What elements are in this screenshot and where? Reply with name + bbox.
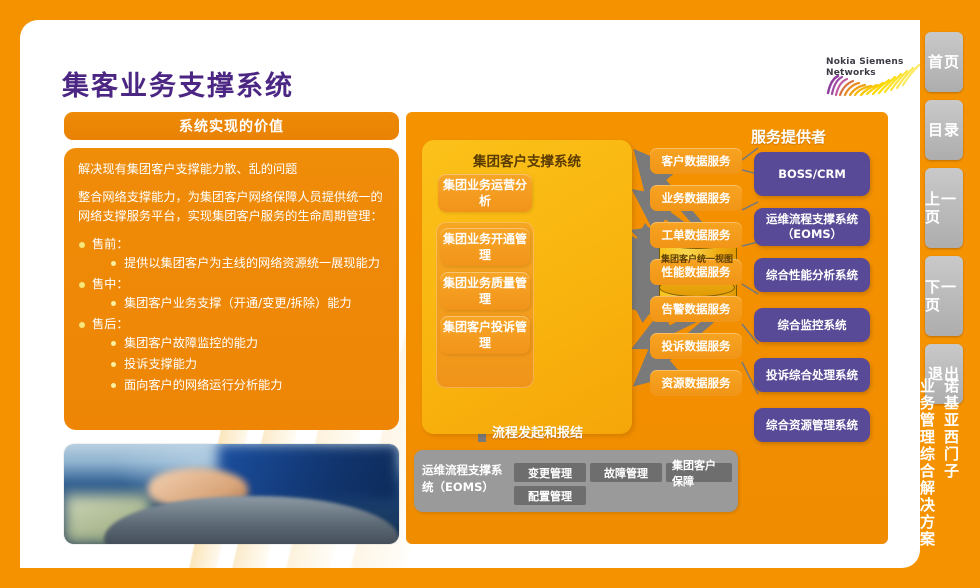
vertical-brand-text: 诺基亚西门子 [941, 378, 962, 480]
eoms-label: 运维流程支撑系统（EOMS） [422, 462, 510, 496]
provider-complaint-handling[interactable]: 投诉综合处理系统 [754, 358, 870, 392]
eoms-fault-management[interactable]: 故障管理 [590, 463, 662, 482]
architecture-diagram: 服务提供者 集团客户支撑系统 集团业务运营分析 集团业务开通管理 集团业务质量管… [406, 112, 888, 544]
data-service-business[interactable]: 业务数据服务 [650, 185, 742, 211]
phase-presale-label: 售前： [92, 237, 129, 251]
cylinder-label: 集团客户统一视图 [659, 254, 735, 267]
slide-paper: 集客业务支撑系统 [20, 20, 920, 568]
data-service-alarm[interactable]: 告警数据服务 [650, 296, 742, 322]
module-provisioning[interactable]: 集团业务开通管理 [440, 228, 530, 266]
list-item: 面向客户的网络运行分析能力 [110, 376, 385, 395]
inner-box-title: 集团客户支撑系统 [422, 150, 632, 170]
page-title: 集客业务支撑系统 [62, 64, 294, 103]
vertical-subtitle-text: 业务管理综合解决方案 [917, 378, 938, 548]
nokia-siemens-networks-logo: Nokia Siemens Networks [820, 53, 920, 101]
nav-button-previous[interactable]: 上一页 [925, 168, 963, 248]
service-provider-title: 服务提供者 [751, 126, 826, 147]
illustration-photo [64, 444, 399, 544]
slide-root: 集客业务支撑系统 [0, 0, 980, 588]
phase-presale-items: 提供以集团客户为主线的网络资源统一展现能力 [110, 254, 385, 273]
eoms-config-management[interactable]: 配置管理 [514, 486, 586, 505]
nav-button-home[interactable]: 首页 [925, 32, 963, 92]
nav-button-next[interactable]: 下一页 [925, 256, 963, 336]
list-item: 提供以集团客户为主线的网络资源统一展现能力 [110, 254, 385, 273]
value-paragraph-1: 解决现有集团客户支撑能力散、乱的问题 [78, 160, 385, 179]
data-service-resource[interactable]: 资源数据服务 [650, 370, 742, 396]
phase-insale-items: 集团客户业务支撑（开通/变更/拆除）能力 [110, 294, 385, 313]
phase-aftersale-label: 售后： [92, 317, 129, 331]
phase-aftersale-items: 集团客户故障监控的能力 投诉支撑能力 面向客户的网络运行分析能力 [110, 334, 385, 395]
module-quality[interactable]: 集团业务质量管理 [440, 272, 530, 310]
module-complaint[interactable]: 集团客户投诉管理 [440, 316, 530, 354]
flow-label: 流程发起和报结 [492, 422, 583, 441]
value-paragraph-2: 整合网络支撑能力，为集团客户网络保障人员提供统一的网络支撑服务平台，实现集团客户… [78, 188, 385, 226]
data-service-ticket[interactable]: 工单数据服务 [650, 222, 742, 248]
module-operation-analysis[interactable]: 集团业务运营分析 [438, 174, 532, 212]
provider-resource-management[interactable]: 综合资源管理系统 [754, 408, 870, 442]
list-item: 集团客户业务支撑（开通/变更/拆除）能力 [110, 294, 385, 313]
logo-line-1: Nokia Siemens [826, 57, 904, 67]
list-item: 集团客户故障监控的能力 [110, 334, 385, 353]
value-panel-header: 系统实现的价值 [64, 112, 399, 140]
list-item: 投诉支撑能力 [110, 355, 385, 374]
data-service-customer[interactable]: 客户数据服务 [650, 148, 742, 174]
phase-insale-label: 售中： [92, 277, 129, 291]
inner-support-system-box: 集团客户支撑系统 集团业务运营分析 集团业务开通管理 集团业务质量管理 集团客户… [422, 140, 632, 434]
eoms-change-management[interactable]: 变更管理 [514, 463, 586, 482]
phase-presale: 售前： 提供以集团客户为主线的网络资源统一展现能力 [78, 235, 385, 273]
phase-list: 售前： 提供以集团客户为主线的网络资源统一展现能力 售中： 集团客户业务支撑（开… [78, 235, 385, 395]
phase-aftersale: 售后： 集团客户故障监控的能力 投诉支撑能力 面向客户的网络运行分析能力 [78, 315, 385, 395]
eoms-customer-guarantee[interactable]: 集团客户保障 [666, 463, 732, 482]
provider-performance-analysis[interactable]: 综合性能分析系统 [754, 258, 870, 292]
provider-eoms[interactable]: 运维流程支撑系统（EOMS） [754, 208, 870, 246]
provider-boss-crm[interactable]: BOSS/CRM [754, 152, 870, 196]
data-service-complaint[interactable]: 投诉数据服务 [650, 333, 742, 359]
value-panel-body: 解决现有集团客户支撑能力散、乱的问题 整合网络支撑能力，为集团客户网络保障人员提… [64, 148, 399, 430]
phase-insale: 售中： 集团客户业务支撑（开通/变更/拆除）能力 [78, 275, 385, 313]
provider-monitoring[interactable]: 综合监控系统 [754, 308, 870, 342]
nav-button-contents[interactable]: 目录 [925, 100, 963, 160]
eoms-panel: 运维流程支撑系统（EOMS） 变更管理 故障管理 集团客户保障 配置管理 [414, 450, 738, 512]
logo-line-2: Networks [826, 68, 876, 78]
photo-image [64, 444, 399, 544]
logo-wordmark: Nokia Siemens Networks [826, 57, 904, 79]
